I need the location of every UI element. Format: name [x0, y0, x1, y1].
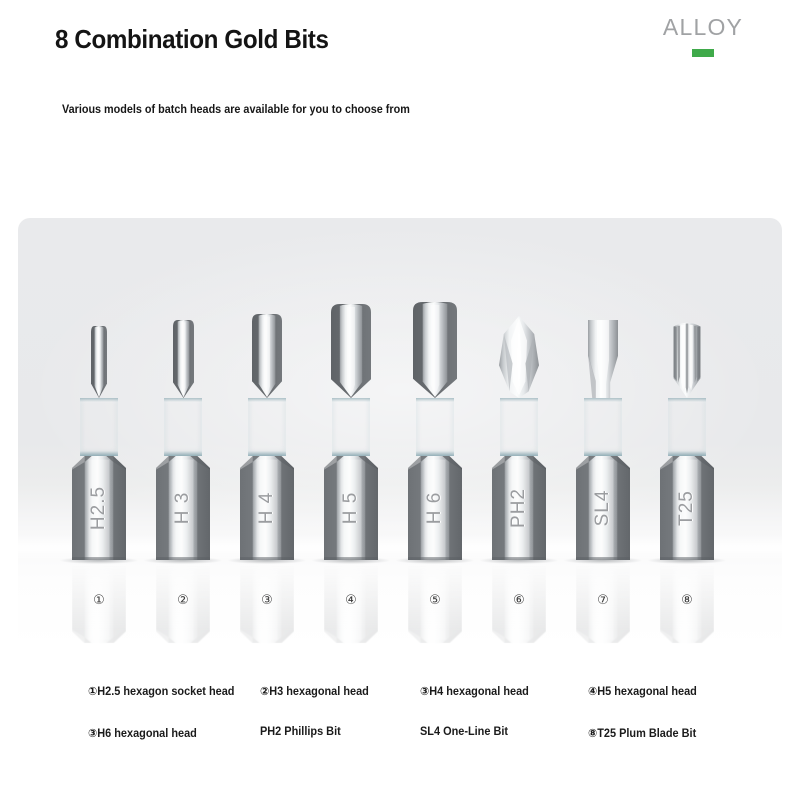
bit-index-number: ④: [345, 593, 357, 606]
caption-item: ⑧T25 Plum Blade Bit: [588, 726, 696, 740]
caption-item: ④H5 hexagonal head: [588, 684, 697, 698]
bit-index-number: ⑥: [513, 593, 525, 606]
caption-item: PH2 Phillips Bit: [260, 726, 341, 738]
hex-tip-icon: [91, 326, 107, 398]
band-top-shading: [668, 398, 706, 402]
bit-body: H 3: [156, 320, 210, 560]
bit-color-band: [248, 398, 286, 456]
hex-tip-icon: [331, 304, 371, 398]
bit-h3[interactable]: H 3: [156, 320, 210, 560]
caption-item: ③H4 hexagonal head: [420, 684, 529, 698]
band-top-shading: [584, 398, 622, 402]
brand-accent-rule: [692, 49, 714, 57]
caption-row-1: ①H2.5 hexagon socket head②H3 hexagonal h…: [0, 684, 800, 726]
bit-body: H2.5: [72, 326, 126, 560]
band-top-shading: [500, 398, 538, 402]
bit-color-band: [668, 398, 706, 456]
bit-hex-shank: H 4: [240, 456, 294, 560]
bit-color-band: [332, 398, 370, 456]
bit-h6[interactable]: H 6: [408, 302, 462, 560]
caption-block: ①H2.5 hexagon socket head②H3 hexagonal h…: [0, 684, 800, 768]
caption-item: ①H2.5 hexagon socket head: [88, 684, 234, 698]
band-top-shading: [164, 398, 202, 402]
bit-h4[interactable]: H 4: [240, 314, 294, 560]
page-subtitle: Various models of batch heads are availa…: [62, 104, 410, 116]
bit-index-number: ②: [177, 593, 189, 606]
bit-hex-shank: H2.5: [72, 456, 126, 560]
torx-tip-icon: [671, 322, 703, 398]
bit-hex-shank: H 5: [324, 456, 378, 560]
caption-row-2: ③H6 hexagonal headPH2 Phillips BitSL4 On…: [0, 726, 800, 768]
hex-tip-icon: [173, 320, 194, 398]
band-top-shading: [248, 398, 286, 402]
bit-hex-shank: T25: [660, 456, 714, 560]
product-stage: H2.5: [18, 218, 782, 648]
bit-body: T25: [660, 322, 714, 560]
bit-h2.5[interactable]: H2.5: [72, 326, 126, 560]
bit-body: PH2: [492, 316, 546, 560]
bit-color-band: [164, 398, 202, 456]
caption-item: ③H6 hexagonal head: [88, 726, 197, 740]
bit-color-band: [584, 398, 622, 456]
slotted-tip-icon: [588, 320, 618, 398]
bit-ph2[interactable]: PH2: [492, 316, 546, 560]
bit-body: H 4: [240, 314, 294, 560]
bit-index-number: ①: [93, 593, 105, 606]
band-top-shading: [416, 398, 454, 402]
bit-color-band: [416, 398, 454, 456]
bit-hex-shank: SL4: [576, 456, 630, 560]
bit-t25[interactable]: T25: [660, 322, 714, 560]
page-title: 8 Combination Gold Bits: [55, 24, 329, 55]
bit-color-band: [80, 398, 118, 456]
bit-index-number: ⑦: [597, 593, 609, 606]
hex-tip-icon: [413, 302, 457, 398]
bit-index-number: ③: [261, 593, 273, 606]
phillips-tip-icon: [499, 316, 539, 398]
bit-color-band: [500, 398, 538, 456]
bit-hex-shank: H 6: [408, 456, 462, 560]
caption-item: ②H3 hexagonal head: [260, 684, 369, 698]
hex-tip-icon: [252, 314, 282, 398]
bit-h5[interactable]: H 5: [324, 304, 378, 560]
bit-body: H 6: [408, 302, 462, 560]
bit-body: SL4: [576, 320, 630, 560]
caption-item: SL4 One-Line Bit: [420, 726, 508, 738]
bit-index-number: ⑤: [429, 593, 441, 606]
bit-sl4[interactable]: SL4: [576, 320, 630, 560]
bit-index-number: ⑧: [681, 593, 693, 606]
band-top-shading: [80, 398, 118, 402]
bit-hex-shank: H 3: [156, 456, 210, 560]
brand-block: ALLOY: [648, 16, 758, 57]
bit-hex-shank: PH2: [492, 456, 546, 560]
bit-body: H 5: [324, 304, 378, 560]
brand-name: ALLOY: [648, 16, 758, 39]
band-top-shading: [332, 398, 370, 402]
